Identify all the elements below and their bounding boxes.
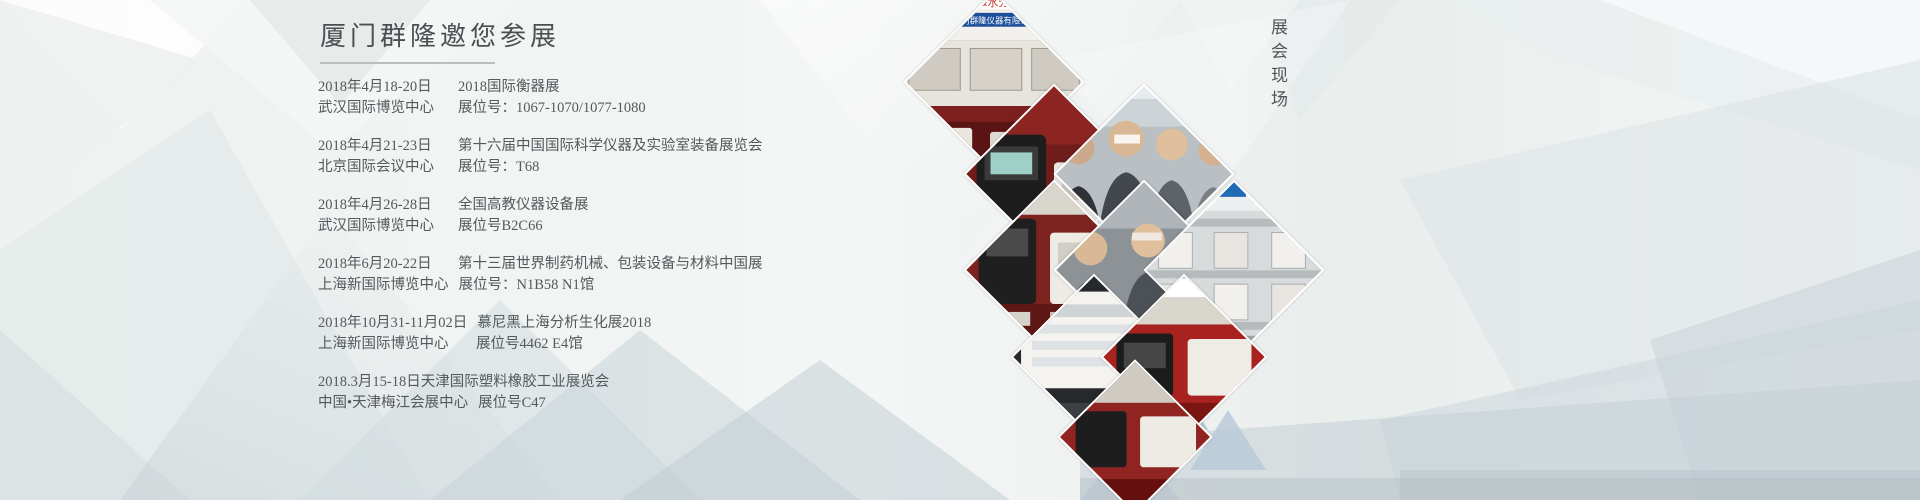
event-date: 2018.3月15-18日天津国际塑料橡胶工业展览会 xyxy=(318,374,609,390)
event-venue: 武汉国际博览中心 xyxy=(318,98,448,119)
event-booth: 展位号C47 xyxy=(468,393,546,414)
event-booth: 展位号：T68 xyxy=(448,157,539,178)
page-title: 厦门群隆邀您参展 xyxy=(318,16,1078,53)
event-date: 2018年4月26-28日 xyxy=(318,195,448,216)
list-item: 2018年4月21-23日第十六届中国国际科学仪器及实验室装备展览会 北京国际会… xyxy=(318,136,1078,178)
exhibition-site-caption: 展会现场 xyxy=(1265,18,1290,114)
list-item: 2018.3月15-18日天津国际塑料橡胶工业展览会 中国•天津梅江会展中心展位… xyxy=(318,372,1078,414)
event-booth: 展位号：N1B58 N1馆 xyxy=(449,275,595,296)
event-venue: 上海新国际博览中心 xyxy=(318,334,466,355)
event-date: 2018年4月21-23日 xyxy=(318,136,448,157)
event-list: 2018年4月18-20日2018国际衡器展 武汉国际博览中心展位号：1067-… xyxy=(318,77,1078,414)
event-name: 2018国际衡器展 xyxy=(448,77,560,98)
event-date: 2018年6月20-22日 xyxy=(318,254,448,275)
event-venue: 上海新国际博览中心 xyxy=(318,275,449,296)
title-underline xyxy=(320,62,495,64)
invitation-panel: 厦门群隆邀您参展 2018年4月18-20日2018国际衡器展 武汉国际博览中心… xyxy=(318,16,1078,486)
event-venue: 北京国际会议中心 xyxy=(318,157,448,178)
list-item: 2018年10月31-11月02日慕尼黑上海分析生化展2018 上海新国际博览中… xyxy=(318,313,1078,355)
event-name: 全国高教仪器设备展 xyxy=(448,195,589,216)
event-date: 2018年10月31-11月02日 xyxy=(318,313,467,334)
event-name: 第十六届中国国际科学仪器及实验室装备展览会 xyxy=(448,136,763,157)
list-item: 2018年4月18-20日2018国际衡器展 武汉国际博览中心展位号：1067-… xyxy=(318,77,1078,119)
event-name: 第十三届世界制药机械、包装设备与材料中国展 xyxy=(448,254,763,275)
list-item: 2018年6月20-22日第十三届世界制药机械、包装设备与材料中国展 上海新国际… xyxy=(318,254,1078,296)
event-booth: 展位号B2C66 xyxy=(448,216,543,237)
list-item: 2018年4月26-28日全国高教仪器设备展 武汉国际博览中心展位号B2C66 xyxy=(318,195,1078,237)
event-name: 慕尼黑上海分析生化展2018 xyxy=(467,313,651,334)
event-venue: 中国•天津梅江会展中心 xyxy=(318,393,468,414)
event-booth: 展位号4462 E4馆 xyxy=(466,334,583,355)
event-venue: 武汉国际博览中心 xyxy=(318,216,448,237)
event-date: 2018年4月18-20日 xyxy=(318,77,448,98)
event-booth: 展位号：1067-1070/1077-1080 xyxy=(448,98,646,119)
